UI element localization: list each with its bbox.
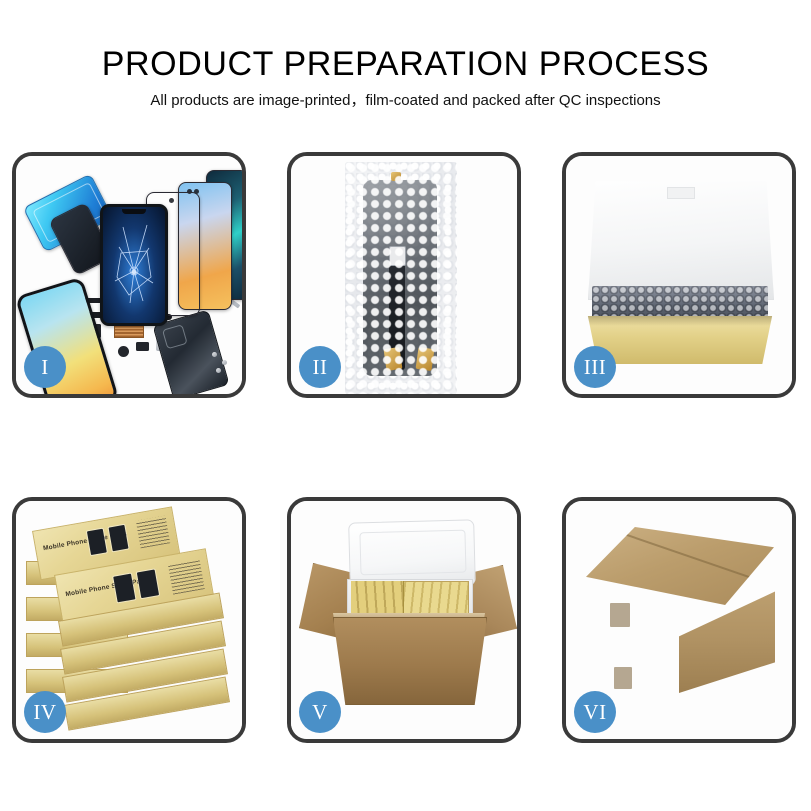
carton-top-seam bbox=[586, 527, 774, 605]
part-vibrator-motor bbox=[118, 346, 129, 357]
carton-body bbox=[333, 617, 487, 705]
gold-contact-left bbox=[384, 347, 403, 371]
process-step-5[interactable]: V bbox=[287, 497, 521, 743]
process-step-1[interactable]: I bbox=[12, 152, 246, 398]
tray-box-lid bbox=[588, 174, 774, 300]
wrapped-connector bbox=[389, 246, 406, 266]
part-chip-b bbox=[136, 342, 149, 351]
step-badge-2: II bbox=[299, 346, 341, 388]
gold-contact-right bbox=[416, 347, 435, 371]
sealed-carton bbox=[580, 527, 780, 709]
process-step-4[interactable]: Mobile Phone Spare Parts Mobile Phone Sp… bbox=[12, 497, 246, 743]
step-badge-4: IV bbox=[24, 691, 66, 733]
step-badge-5: V bbox=[299, 691, 341, 733]
page-header: PRODUCT PREPARATION PROCESS All products… bbox=[0, 0, 811, 112]
step-badge-3: III bbox=[574, 346, 616, 388]
process-step-grid: I II III bbox=[12, 152, 800, 743]
box-spec-lines-top bbox=[136, 516, 170, 549]
step-badge-6: VI bbox=[574, 691, 616, 733]
process-step-3[interactable]: III bbox=[562, 152, 796, 398]
phone-cracked-black-frame bbox=[100, 204, 168, 326]
step-badge-1: I bbox=[24, 346, 66, 388]
box-spec-lines-second bbox=[168, 559, 205, 594]
part-screw-c bbox=[216, 368, 221, 373]
bubble-wrap-bag bbox=[345, 162, 457, 394]
tray-base-shadow bbox=[582, 316, 778, 326]
tray-lid-tab bbox=[667, 187, 695, 199]
gold-contact-top bbox=[391, 172, 401, 181]
carton-tape-upper bbox=[610, 603, 630, 627]
part-screw-a bbox=[212, 352, 217, 357]
process-step-6[interactable]: VI bbox=[562, 497, 796, 743]
page-title: PRODUCT PREPARATION PROCESS bbox=[0, 44, 811, 84]
process-step-2[interactable]: II bbox=[287, 152, 521, 398]
crack-lines-icon bbox=[103, 207, 165, 323]
page-subtitle: All products are image-printed，film-coat… bbox=[0, 90, 811, 112]
carton-tape-lower bbox=[614, 667, 632, 689]
part-screw-b bbox=[222, 360, 227, 365]
